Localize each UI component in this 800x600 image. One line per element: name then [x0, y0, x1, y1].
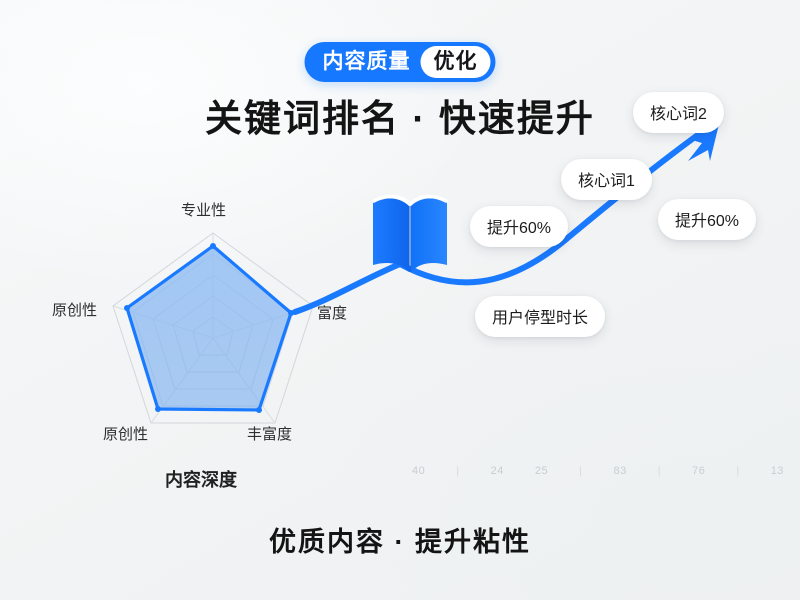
radar-axis-label-top: 专业性	[181, 199, 226, 220]
footer-title: 优质内容 · 提升粘性	[0, 520, 800, 559]
pill-dwell-time[interactable]: 用户停型时长	[475, 296, 605, 337]
pill-uplift-left[interactable]: 提升60%	[470, 206, 568, 247]
badge[interactable]: 内容质量 优化	[305, 42, 496, 82]
tick-scale: 40 | 24 25 | 83 | 76 | 13	[412, 466, 784, 477]
tick-value: 76	[692, 466, 705, 477]
radar-axis-label-right: 富度	[317, 302, 347, 323]
radar-spokes	[113, 233, 313, 423]
badge-chip-label: 优化	[421, 46, 491, 78]
tick-separator: |	[736, 466, 739, 477]
radar-data-vertices	[124, 243, 294, 413]
badge-pill[interactable]: 内容质量 优化	[305, 42, 496, 82]
tick-value: 24	[491, 466, 504, 477]
radar-axis-label-left: 原创性	[52, 299, 97, 320]
radar-axis-label-bottom-right: 丰富度	[247, 423, 292, 444]
radar-data-area	[127, 246, 291, 410]
tick-separator: |	[579, 466, 582, 477]
tick-value: 83	[613, 466, 626, 477]
radar-chart-caption: 内容深度	[165, 466, 237, 492]
tick-separator: |	[658, 466, 661, 477]
tick-value: 40	[412, 466, 425, 477]
radar-grid-rings	[113, 233, 313, 423]
radar-axis-label-bottom-left: 原创性	[103, 423, 148, 444]
tick-value: 13	[771, 466, 784, 477]
tick-separator: |	[456, 466, 459, 477]
tick-value: 25	[535, 466, 548, 477]
pill-keyword-1[interactable]: 核心词1	[561, 159, 652, 200]
infographic-stage: 内容质量 优化 关键词排名 · 快速提升 优质内容 · 提升粘性 专业性 富度 …	[0, 0, 800, 600]
page-title: 关键词排名 · 快速提升	[0, 88, 800, 142]
badge-main-label: 内容质量	[323, 48, 421, 76]
pill-uplift-right[interactable]: 提升60%	[658, 199, 756, 240]
open-book-icon	[368, 186, 452, 278]
